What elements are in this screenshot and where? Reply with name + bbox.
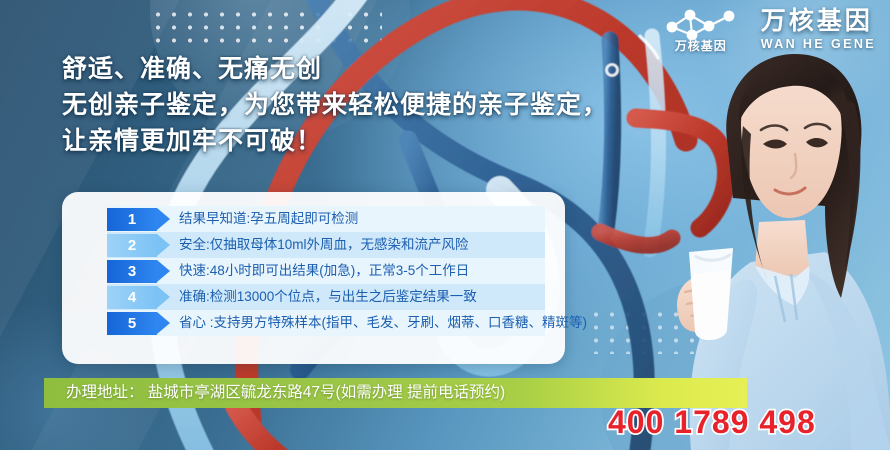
- feature-number-badge: 3: [107, 260, 157, 283]
- feature-text: 快速:48小时即可出结果(加急)，正常3-5个工作日: [179, 258, 469, 284]
- list-item: 2 安全:仅抽取母体10ml外周血，无感染和流产风险: [107, 232, 545, 258]
- feature-number-badge: 1: [107, 208, 157, 231]
- list-item: 3 快速:48小时即可出结果(加急)，正常3-5个工作日: [107, 258, 545, 284]
- headline-line-2: 无创亲子鉴定，为您带来轻松便捷的亲子鉴定，: [62, 88, 662, 122]
- headline: 舒适、准确、无痛无创 无创亲子鉴定，为您带来轻松便捷的亲子鉴定， 让亲情更加牢不…: [62, 52, 662, 160]
- feature-text: 安全:仅抽取母体10ml外周血，无感染和流产风险: [179, 232, 469, 258]
- list-item: 4 准确:检测13000个位点，与出生之后鉴定结果一致: [107, 284, 545, 310]
- feature-text: 准确:检测13000个位点，与出生之后鉴定结果一致: [179, 284, 477, 310]
- headline-line-1: 舒适、准确、无痛无创: [62, 52, 662, 86]
- brand-wordmark: 万核基因 WAN HE GENE: [761, 9, 876, 51]
- feature-number-badge: 4: [107, 286, 157, 309]
- feature-number-badge: 2: [107, 234, 157, 257]
- brand-name-cn: 万核基因: [761, 9, 876, 34]
- list-item: 1 结果早知道:孕五周起即可检测: [107, 206, 545, 232]
- feature-number-badge: 5: [107, 312, 157, 335]
- feature-text: 省心 :支持男方特殊样本(指甲、毛发、牙刷、烟蒂、口香糖、精斑等): [179, 310, 587, 336]
- banner-root: 万核基因 万核基因 WAN HE GENE 舒适、准确、无痛无创 无创亲子鉴定，…: [0, 0, 890, 450]
- feature-list: 1 结果早知道:孕五周起即可检测 2 安全:仅抽取母体10ml外周血，无感染和流…: [107, 206, 545, 336]
- feature-card: 1 结果早知道:孕五周起即可检测 2 安全:仅抽取母体10ml外周血，无感染和流…: [62, 192, 565, 364]
- brand-name-en: WAN HE GENE: [761, 38, 876, 51]
- list-item: 5 省心 :支持男方特殊样本(指甲、毛发、牙刷、烟蒂、口香糖、精斑等): [107, 310, 545, 336]
- molecule-network-icon: 万核基因: [659, 6, 751, 54]
- headline-line-3: 让亲情更加牢不可破！: [62, 124, 662, 158]
- phone-number[interactable]: 400 1789 498: [608, 404, 816, 441]
- address-text: 办理地址： 盐城市亭湖区毓龙东路47号(如需办理 提前电话预约): [66, 378, 505, 408]
- brand-logo[interactable]: 万核基因 万核基因 WAN HE GENE: [659, 6, 876, 54]
- logo-mark-label: 万核基因: [675, 37, 767, 54]
- feature-text: 结果早知道:孕五周起即可检测: [179, 206, 358, 232]
